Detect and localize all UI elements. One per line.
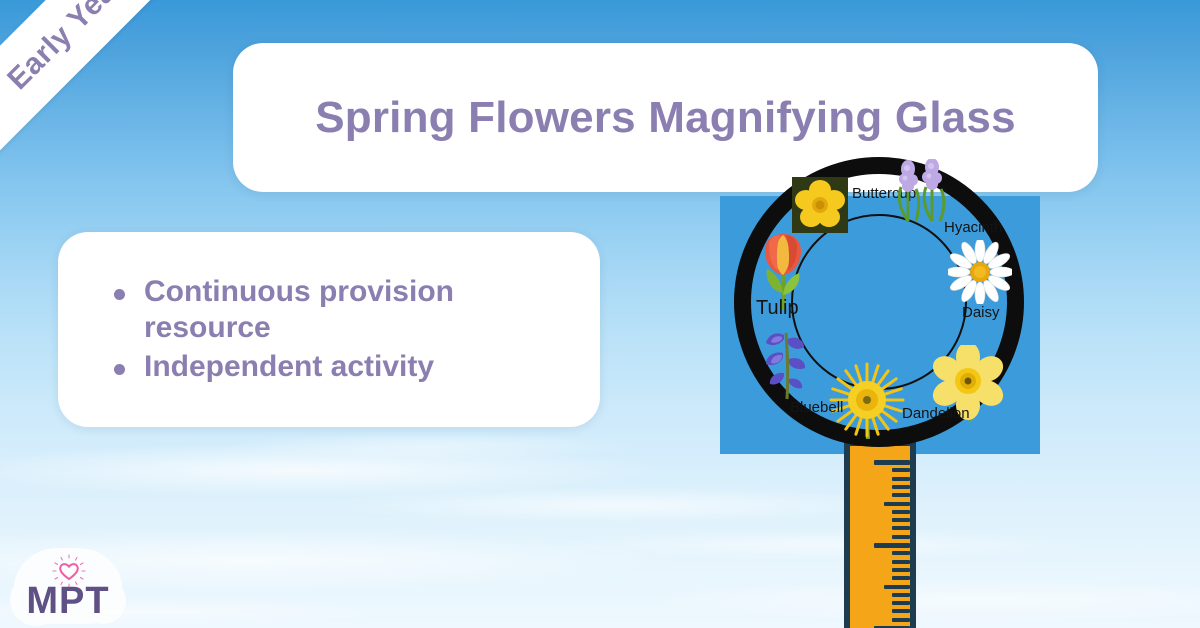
ruler-number: 0	[844, 450, 854, 464]
feature-list: Continuous provision resource Independen…	[102, 272, 574, 388]
ruler-number: 2	[844, 616, 854, 628]
flower-tulip: Tulip	[756, 233, 810, 311]
flower-label-dandelion: Dandelion	[902, 405, 970, 422]
magnifying-glass-graphic: 0123 Butterc	[720, 155, 1040, 628]
bluebell-flower-icon	[758, 325, 812, 403]
magnifier-handle-ruler: 0123	[844, 441, 916, 628]
flower-hyacinth: Hyacinth	[896, 159, 958, 223]
page-title: Spring Flowers Magnifying Glass	[315, 93, 1016, 143]
ruler-numbers: 0123	[854, 446, 888, 628]
mpt-logo: MPT	[8, 536, 128, 628]
list-item: Continuous provision resource	[102, 274, 574, 347]
flower-bluebell: Bluebell	[758, 325, 812, 403]
flower-buttercup: Buttercup	[792, 177, 848, 233]
mpt-logo-text: MPT	[16, 580, 120, 623]
flower-label-bluebell: Bluebell	[790, 399, 843, 416]
hyacinth-flower-icon	[896, 159, 958, 223]
buttercup-flower-icon	[792, 177, 848, 233]
features-card: Continuous provision resource Independen…	[58, 232, 600, 427]
flower-label-tulip: Tulip	[756, 297, 799, 320]
flower-daisy: Daisy	[948, 240, 1012, 304]
ruler-number: 1	[844, 533, 854, 547]
poster-canvas: Early Years Spring Flowers Magnifying Gl…	[0, 0, 1200, 628]
daisy-flower-icon	[948, 240, 1012, 304]
flower-label-hyacinth: Hyacinth	[944, 219, 1002, 236]
flower-label-daisy: Daisy	[962, 304, 1000, 321]
list-item: Independent activity	[102, 349, 574, 386]
